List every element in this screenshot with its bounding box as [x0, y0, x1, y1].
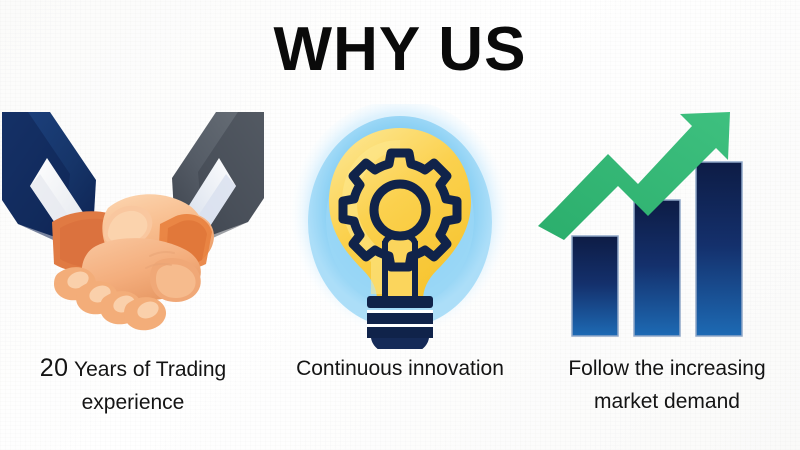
- caption-continuous-innovation: Continuous innovation: [271, 352, 529, 385]
- handshake-illustration: [0, 104, 266, 349]
- feature-column-continuous-innovation: Continuous innovation: [267, 104, 533, 434]
- caption-text: Years of Trading experience: [69, 358, 227, 414]
- page-title: WHY US: [0, 14, 800, 86]
- lightbulb-icon: [267, 104, 533, 349]
- caption-lead-number: 20: [40, 354, 69, 382]
- lightbulb-gear-illustration: [267, 104, 533, 349]
- feature-column-market-demand: Follow the increasing market demand: [534, 104, 800, 434]
- handshake-icon: [0, 104, 266, 349]
- caption-market-demand: Follow the increasing market demand: [538, 352, 796, 418]
- growth-chart-icon: [534, 104, 800, 349]
- why-us-slide: WHY US: [0, 0, 800, 450]
- feature-column-trading-experience: 20 Years of Trading experience: [0, 104, 266, 434]
- caption-text: Follow the increasing market demand: [568, 357, 765, 413]
- growth-bar-chart-illustration: [534, 104, 800, 349]
- caption-trading-experience: 20 Years of Trading experience: [4, 352, 262, 419]
- caption-text: Continuous innovation: [296, 357, 504, 380]
